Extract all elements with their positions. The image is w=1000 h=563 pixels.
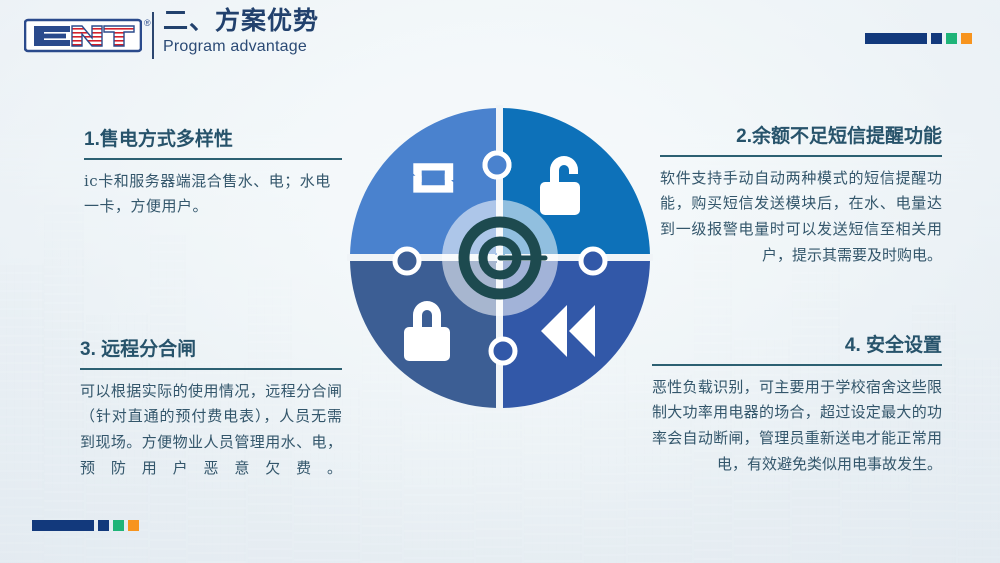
decoration-square-green bbox=[113, 520, 124, 531]
slide-title-cn: 二、方案优势 bbox=[163, 9, 319, 34]
feature-rule-1 bbox=[84, 158, 342, 160]
feature-block-2: 2.余额不足短信提醒功能 软件支持手动自动两种模式的短信提醒功能，购买短信发送模… bbox=[660, 125, 942, 269]
feature-body-3: 可以根据实际的使用情况，远程分合闸（针对直通的预付费电表），人员无需到现场。方便… bbox=[80, 379, 342, 482]
puzzle-wheel-diagram bbox=[345, 103, 655, 413]
feature-body-1: ic卡和服务器端混合售水、电；水电一卡，方便用户。 bbox=[84, 169, 342, 221]
feature-rule-4 bbox=[652, 364, 942, 366]
decoration-square-blue bbox=[931, 33, 942, 44]
feature-block-4: 4. 安全设置 恶性负载识别，可主要用于学校宿舍这些限制大功率用电器的场合，超过… bbox=[652, 334, 942, 478]
title-divider bbox=[152, 12, 154, 59]
decoration-square-blue bbox=[98, 520, 109, 531]
feature-body-4: 恶性负载识别，可主要用于学校宿舍这些限制大功率用电器的场合，超过设定最大的功率会… bbox=[652, 375, 942, 478]
registered-trademark-mark: ® bbox=[144, 18, 151, 28]
feature-heading-3: 3. 远程分合闸 bbox=[80, 338, 342, 363]
ent-logo-mark bbox=[24, 16, 142, 56]
company-logo: ® bbox=[24, 16, 151, 56]
feature-body-2: 软件支持手动自动两种模式的短信提醒功能，购买短信发送模块后，在水、电量达到一级报… bbox=[660, 166, 942, 269]
feature-heading-4: 4. 安全设置 bbox=[652, 334, 942, 359]
feature-heading-1: 1.售电方式多样性 bbox=[84, 128, 342, 153]
decoration-bar bbox=[865, 33, 927, 44]
decoration-square-green bbox=[946, 33, 957, 44]
decoration-bottom-left bbox=[32, 520, 139, 531]
puzzle-wheel-svg bbox=[345, 103, 655, 413]
feature-heading-2: 2.余额不足短信提醒功能 bbox=[660, 125, 942, 150]
decoration-bar bbox=[32, 520, 94, 531]
feature-rule-2 bbox=[660, 155, 942, 157]
feature-block-3: 3. 远程分合闸 可以根据实际的使用情况，远程分合闸（针对直通的预付费电表），人… bbox=[80, 338, 342, 482]
decoration-square-orange bbox=[961, 33, 972, 44]
feature-block-1: 1.售电方式多样性 ic卡和服务器端混合售水、电；水电一卡，方便用户。 bbox=[84, 128, 342, 220]
slide-title-en: Program advantage bbox=[163, 39, 319, 55]
decoration-top-right bbox=[865, 33, 972, 44]
feature-rule-3 bbox=[80, 368, 342, 370]
slide-header: ® 二、方案优势 Program advantage bbox=[0, 0, 1000, 74]
decoration-square-orange bbox=[128, 520, 139, 531]
slide-title-block: 二、方案优势 Program advantage bbox=[163, 9, 319, 55]
slide-canvas: ® 二、方案优势 Program advantage 1.售电方式多样性 ic卡… bbox=[0, 0, 1000, 563]
